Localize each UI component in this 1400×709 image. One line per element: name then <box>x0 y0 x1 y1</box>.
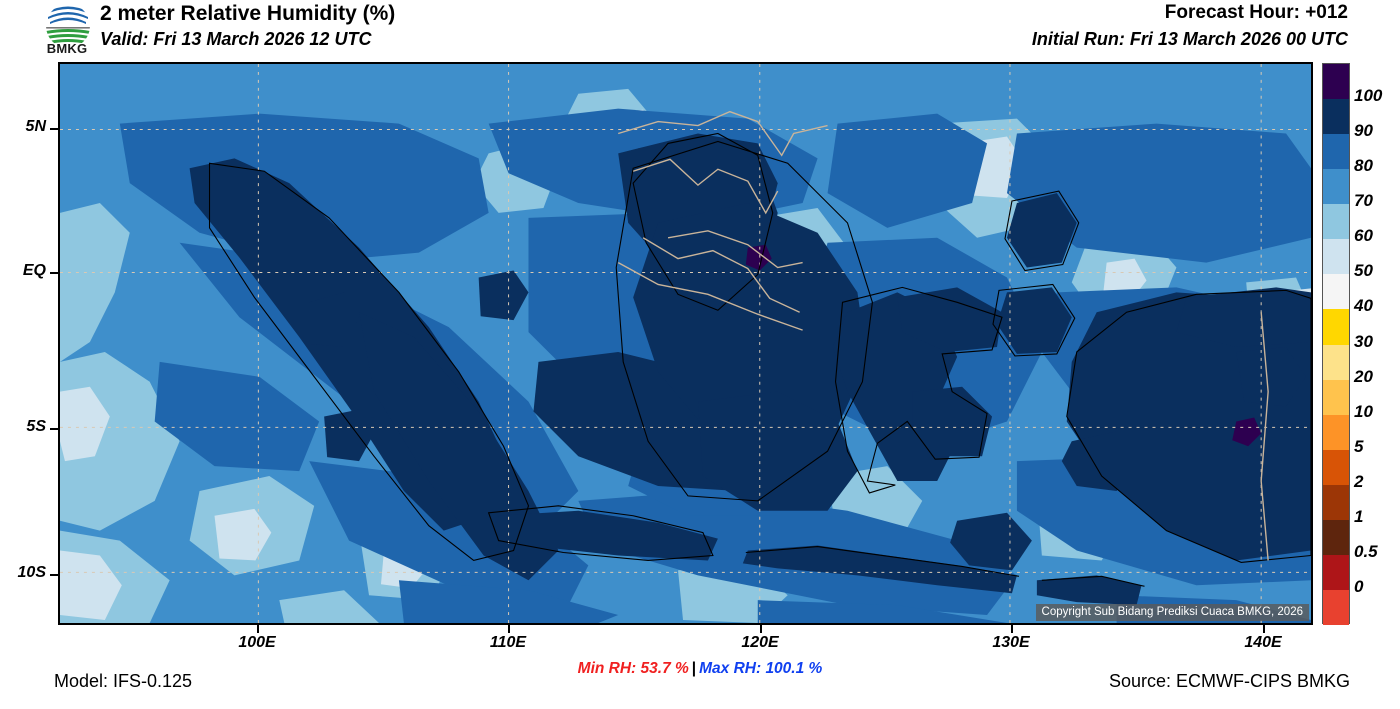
lat-label-5s: 5S <box>2 418 46 436</box>
colorbar-label-30: 30 <box>1354 332 1373 352</box>
colorbar-band-100 <box>1323 64 1349 99</box>
colorbar-band-10 <box>1323 380 1349 415</box>
colorbar-label-40: 40 <box>1354 296 1373 316</box>
lat-tick-1 <box>50 272 58 274</box>
colorbar-label-2: 2 <box>1354 472 1363 492</box>
lon-tick-1 <box>508 625 510 633</box>
lat-label-10s: 10S <box>2 564 46 582</box>
colorbar-band-30 <box>1323 309 1349 344</box>
map-canvas[interactable]: .c50{fill:#cfe3ef}.c60{fill:#8fc7e0}.c70… <box>58 62 1313 625</box>
colorbar-label-0.5: 0.5 <box>1354 542 1378 562</box>
bmkg-logo-label: BMKG <box>38 41 96 56</box>
lon-tick-3 <box>1011 625 1013 633</box>
colorbar-band-0.5 <box>1323 520 1349 555</box>
lat-tick-0 <box>50 128 58 130</box>
colorbar-label-50: 50 <box>1354 261 1373 281</box>
colorbar-label-70: 70 <box>1354 191 1373 211</box>
colorbar-label-60: 60 <box>1354 226 1373 246</box>
colorbar-label-100: 100 <box>1354 86 1382 106</box>
colorbar-band-1 <box>1323 485 1349 520</box>
header: BMKG 2 meter Relative Humidity (%) Valid… <box>0 0 1400 60</box>
lon-label-140e: 140E <box>1223 634 1303 652</box>
initial-run-label: Initial Run: Fri 13 March 2026 00 UTC <box>1032 29 1348 50</box>
minmax-separator: | <box>689 660 699 677</box>
lon-tick-2 <box>760 625 762 633</box>
colorbar-band-40 <box>1323 274 1349 309</box>
colorbar-label-10: 10 <box>1354 402 1373 422</box>
colorbar-band-70 <box>1323 169 1349 204</box>
colorbar-labels: 1009080706050403020105210.50 <box>1354 63 1400 624</box>
colorbar-band-bottom <box>1323 590 1349 625</box>
colorbar-band-2 <box>1323 450 1349 485</box>
colorbar-band-60 <box>1323 204 1349 239</box>
colorbar-label-5: 5 <box>1354 437 1363 457</box>
forecast-hour-label: Forecast Hour: +012 <box>1165 2 1348 24</box>
colorbar-label-1: 1 <box>1354 507 1363 527</box>
copyright-watermark: Copyright Sub Bidang Prediksi Cuaca BMKG… <box>1036 604 1309 621</box>
colorbar-label-20: 20 <box>1354 367 1373 387</box>
colorbar-band-50 <box>1323 239 1349 274</box>
lon-label-110e: 110E <box>468 634 548 652</box>
min-max-rh-label: Min RH: 53.7 %|Max RH: 100.1 % <box>0 660 1400 678</box>
lat-label-eq: EQ <box>2 262 46 280</box>
lat-tick-3 <box>50 574 58 576</box>
lat-label-5n: 5N <box>2 118 46 136</box>
colorbar <box>1322 63 1350 624</box>
colorbar-label-0: 0 <box>1354 577 1363 597</box>
lon-tick-0 <box>257 625 259 633</box>
colorbar-band-80 <box>1323 134 1349 169</box>
colorbar-band-90 <box>1323 99 1349 134</box>
colorbar-label-80: 80 <box>1354 156 1373 176</box>
lon-label-100e: 100E <box>217 634 297 652</box>
lat-tick-2 <box>50 428 58 430</box>
lon-tick-4 <box>1263 625 1265 633</box>
humidity-contour-map: .c50{fill:#cfe3ef}.c60{fill:#8fc7e0}.c70… <box>60 64 1311 623</box>
colorbar-band-5 <box>1323 415 1349 450</box>
min-rh-value: Min RH: 53.7 % <box>578 660 689 677</box>
lon-label-120e: 120E <box>720 634 800 652</box>
lon-label-130e: 130E <box>971 634 1051 652</box>
colorbar-band-0 <box>1323 555 1349 590</box>
valid-time-label: Valid: Fri 13 March 2026 12 UTC <box>100 29 371 50</box>
page-title: 2 meter Relative Humidity (%) <box>100 2 395 26</box>
colorbar-band-20 <box>1323 345 1349 380</box>
colorbar-label-90: 90 <box>1354 121 1373 141</box>
max-rh-value: Max RH: 100.1 % <box>699 660 822 677</box>
